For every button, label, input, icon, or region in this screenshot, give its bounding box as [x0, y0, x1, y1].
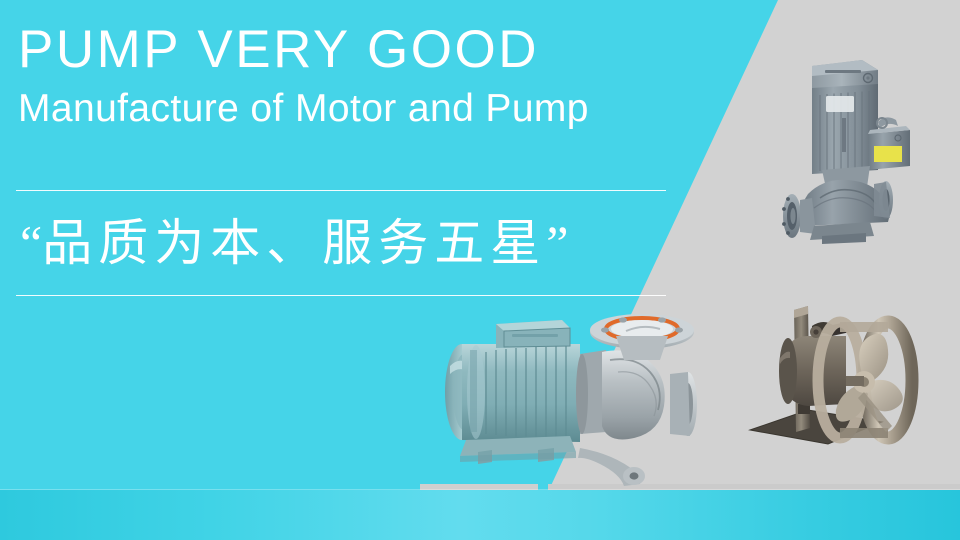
close-quote-mark: ”	[546, 215, 568, 271]
product-image-horizontal-centrifugal-pump	[430, 300, 720, 495]
headline-block: PUMP VERY GOOD Manufacture of Motor and …	[18, 22, 738, 131]
product-image-vertical-inline-pump	[770, 48, 960, 248]
divider-rule-top	[16, 190, 666, 191]
slogan-text: “品质为本、服务五星”	[20, 203, 568, 275]
promo-banner: PUMP VERY GOOD Manufacture of Motor and …	[0, 0, 960, 540]
page-subtitle: Manufacture of Motor and Pump	[18, 88, 738, 131]
page-title: PUMP VERY GOOD	[18, 22, 738, 78]
slogan-body: 品质为本、服务五星	[42, 215, 546, 271]
bottom-cyan-band	[0, 490, 960, 540]
product-image-submersible-mixer	[742, 292, 942, 462]
open-quote-mark: “	[20, 215, 42, 271]
divider-rule-bottom	[16, 295, 666, 296]
